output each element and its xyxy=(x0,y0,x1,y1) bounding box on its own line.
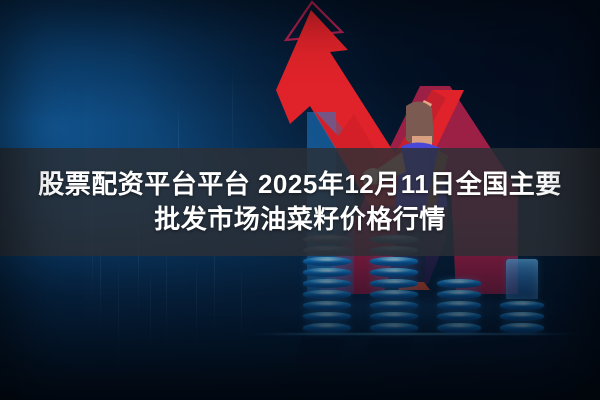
caption-line-1: 股票配资平台平台 2025年12月11日全国主要 xyxy=(38,170,561,200)
caption-text: 股票配资平台平台 2025年12月11日全国主要 批发市场油菜籽价格行情 xyxy=(0,148,600,256)
banner-image: 股票配资平台平台 2025年12月11日全国主要 批发市场油菜籽价格行情 xyxy=(0,0,600,400)
caption-line-2: 批发市场油菜籽价格行情 xyxy=(154,205,446,235)
